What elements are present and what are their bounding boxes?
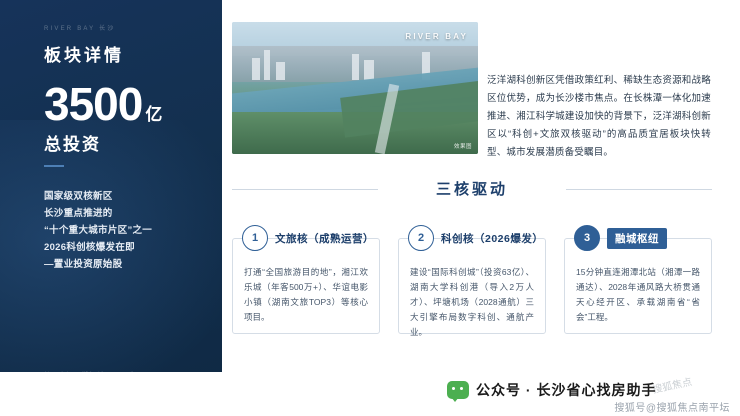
- section-header: 三核驱动: [232, 178, 712, 208]
- card-header: 2 科创核（2026爆发）: [408, 225, 543, 251]
- wechat-promo[interactable]: 公众号 · 长沙省心找房助手: [447, 380, 656, 400]
- slide-root: RIVER BAY 长沙 板块详情 3500亿 总投资 国家级双核新区 长沙重点…: [0, 0, 740, 416]
- hero-paragraph: 泛洋湖科创新区凭借政策红利、稀缺生态资源和战略区位优势，成为长沙楼市焦点。在长株…: [487, 72, 711, 162]
- hero-building: [364, 60, 374, 80]
- hero-image-caption: 效果图: [454, 142, 472, 150]
- wechat-icon: [447, 381, 469, 399]
- card-number-badge: 3: [574, 225, 600, 251]
- card-title: 文旅核（成熟运营）: [275, 231, 374, 246]
- sohu-watermark: 搜狐号@搜狐焦点南平坛: [614, 399, 730, 414]
- hero-building: [252, 58, 260, 80]
- section-line-right: [566, 189, 712, 190]
- panel-watermark: RIVER BAY 长沙: [44, 23, 116, 32]
- card-body: 打通“全国旅游目的地”，湘江欢乐城（年客500万+）、华谊电影小镇（湖南文旅TO…: [244, 265, 368, 325]
- diagonal-watermark: 搜狐焦点: [651, 373, 693, 396]
- card-number-badge: 1: [242, 225, 268, 251]
- wechat-label: 公众号 · 长沙省心找房助手: [476, 380, 656, 400]
- three-core-cards: 1 文旅核（成熟运营） 打通“全国旅游目的地”，湘江欢乐城（年客500万+）、华…: [232, 224, 714, 334]
- wechat-icon-dot: [452, 387, 455, 390]
- card-kechuang: 2 科创核（2026爆发） 建设“国际科创城”（投资63亿）、湖南大学科创港（导…: [398, 238, 546, 334]
- card-header: 1 文旅核（成熟运营）: [242, 225, 374, 251]
- card-body: 建设“国际科创城”（投资63亿）、湖南大学科创港（导入2万人才）、坪塘机场（20…: [410, 265, 534, 340]
- bottom-overlay-bar: 搜狐焦点 公众号 · 长沙省心找房助手 搜狐号@搜狐焦点南平坛: [0, 372, 740, 416]
- card-title: 融城枢纽: [607, 228, 667, 249]
- investment-unit: 亿: [145, 105, 162, 124]
- left-info-panel: RIVER BAY 长沙 板块详情 3500亿 总投资 国家级双核新区 长沙重点…: [0, 0, 222, 387]
- card-body: 15分钟直连湘潭北站（湘潭一路通达）、2028年通风路大桥贯通天心经开区、承载湖…: [576, 265, 700, 325]
- card-header: 3 融城枢纽: [574, 225, 667, 251]
- investment-number: 3500: [44, 78, 142, 130]
- panel-divider: [44, 165, 64, 167]
- hero-building: [264, 50, 270, 80]
- panel-title: 板块详情: [44, 41, 124, 66]
- panel-description: 国家级双核新区 长沙重点推进的 “十个重大城市片区”之一 2026科创核爆发在即…: [44, 188, 194, 273]
- card-title: 科创核（2026爆发）: [441, 231, 543, 246]
- hero-building: [352, 54, 359, 80]
- wechat-icon-dot: [460, 387, 463, 390]
- hero-building: [276, 62, 285, 80]
- investment-subtitle: 总投资: [44, 130, 101, 155]
- card-number-badge: 2: [408, 225, 434, 251]
- card-rongcheng: 3 融城枢纽 15分钟直连湘潭北站（湘潭一路通达）、2028年通风路大桥贯通天心…: [564, 238, 712, 334]
- card-wenlv: 1 文旅核（成熟运营） 打通“全国旅游目的地”，湘江欢乐城（年客500万+）、华…: [232, 238, 380, 334]
- riverbay-logo: RIVER BAY: [405, 32, 468, 41]
- hero-aerial-image: RIVER BAY 效果图: [232, 22, 478, 154]
